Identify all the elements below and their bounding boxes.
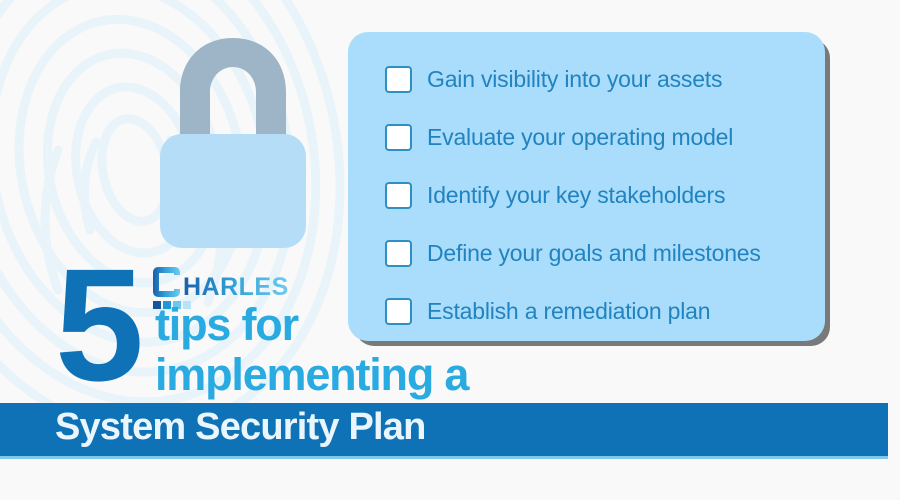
checklist-item-label: Gain visibility into your assets [427, 66, 722, 93]
checkbox-define-goals[interactable] [385, 240, 412, 267]
checkbox-identify-stakeholders[interactable] [385, 182, 412, 209]
checkbox-establish-remediation[interactable] [385, 298, 412, 325]
checklist-item[interactable]: Establish a remediation plan [348, 283, 825, 341]
checklist-item-label: Define your goals and milestones [427, 240, 761, 267]
padlock-icon [158, 30, 308, 248]
checklist-item[interactable]: Evaluate your operating model [348, 108, 825, 166]
checkbox-evaluate-model[interactable] [385, 124, 412, 151]
checklist-item-label: Evaluate your operating model [427, 124, 733, 151]
checklist-item[interactable]: Define your goals and milestones [348, 225, 825, 283]
checkbox-gain-visibility[interactable] [385, 66, 412, 93]
banner-title: System Security Plan [55, 408, 426, 446]
charles-wordmark: HARLES [183, 273, 289, 301]
checklist-item-label: Identify your key stakeholders [427, 182, 725, 209]
checklist-item-label: Establish a remediation plan [427, 298, 710, 325]
banner-underline [0, 456, 888, 459]
charles-c-mark [153, 267, 180, 297]
checklist-panel: Gain visibility into your assets Evaluat… [348, 32, 825, 341]
headline-number: 5 [55, 245, 138, 405]
checklist-item[interactable]: Gain visibility into your assets [348, 50, 825, 108]
checklist-item[interactable]: Identify your key stakeholders [348, 166, 825, 224]
headline-line-2: implementing a [155, 352, 468, 397]
headline-line-1: tips for [155, 302, 298, 347]
